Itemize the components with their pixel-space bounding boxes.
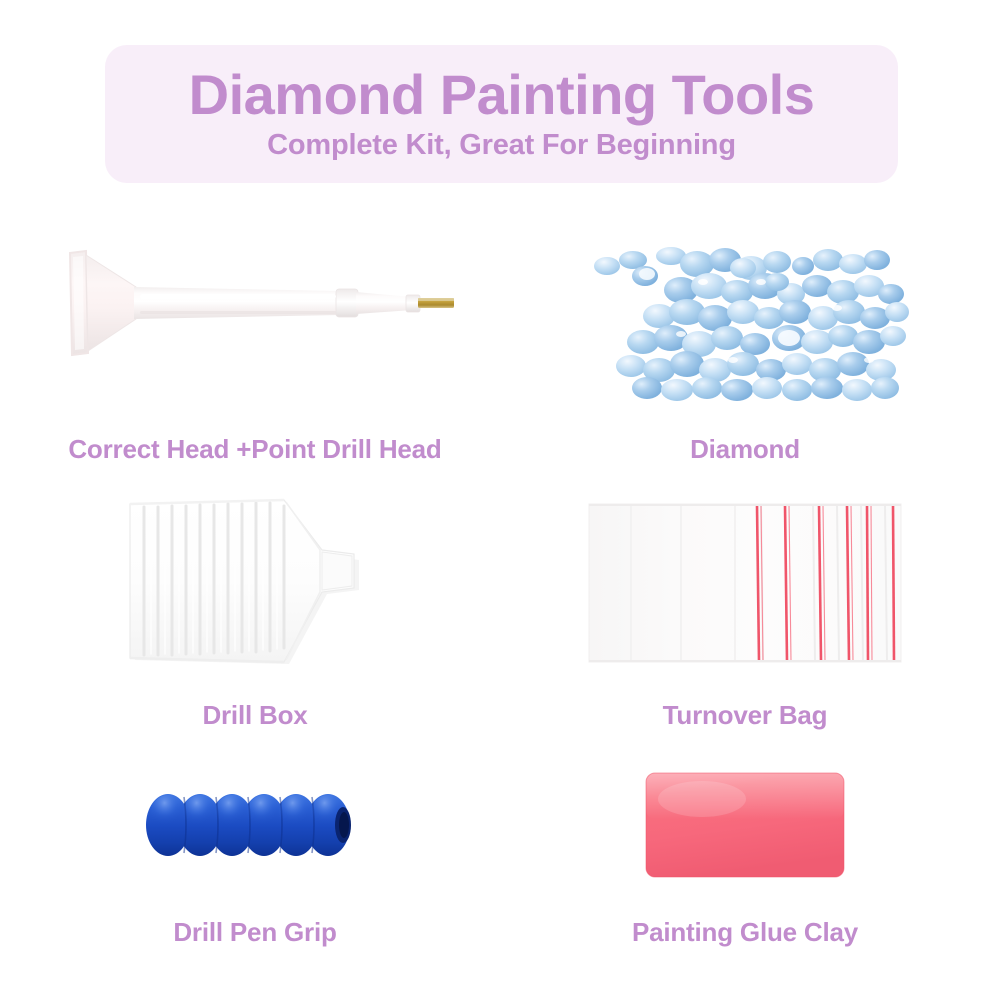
product-cell-drill-pen-grip: Drill Pen Grip <box>10 745 500 948</box>
pen-grip-icon <box>10 745 500 905</box>
drill-pen-icon <box>10 220 500 420</box>
product-grid: Correct Head +Point Drill Head <box>0 200 1000 1000</box>
product-label-turnover-bag: Turnover Bag <box>663 700 828 731</box>
product-infographic: Diamond Painting Tools Complete Kit, Gre… <box>0 0 1000 1000</box>
product-label-drill-pen-grip: Drill Pen Grip <box>173 917 336 948</box>
product-label-painting-glue-clay: Painting Glue Clay <box>632 917 858 948</box>
product-cell-correct-head-point-drill-head: Correct Head +Point Drill Head <box>10 220 500 465</box>
product-label-correct-head-point-drill-head: Correct Head +Point Drill Head <box>68 434 441 465</box>
header-banner: Diamond Painting Tools Complete Kit, Gre… <box>105 45 898 183</box>
diamond-drills-icon <box>500 220 990 420</box>
product-cell-turnover-bag: Turnover Bag <box>500 475 990 731</box>
product-cell-diamond: Diamond <box>500 220 990 465</box>
product-label-drill-box: Drill Box <box>202 700 307 731</box>
zip-bag-icon <box>500 475 990 690</box>
product-cell-drill-box: Drill Box <box>10 475 500 731</box>
glue-clay-icon <box>500 745 990 905</box>
product-cell-painting-glue-clay: Painting Glue Clay <box>500 745 990 948</box>
page-title: Diamond Painting Tools <box>189 66 815 127</box>
drill-tray-icon <box>10 475 500 690</box>
page-subtitle: Complete Kit, Great For Beginning <box>267 126 736 162</box>
product-label-diamond: Diamond <box>690 434 800 465</box>
